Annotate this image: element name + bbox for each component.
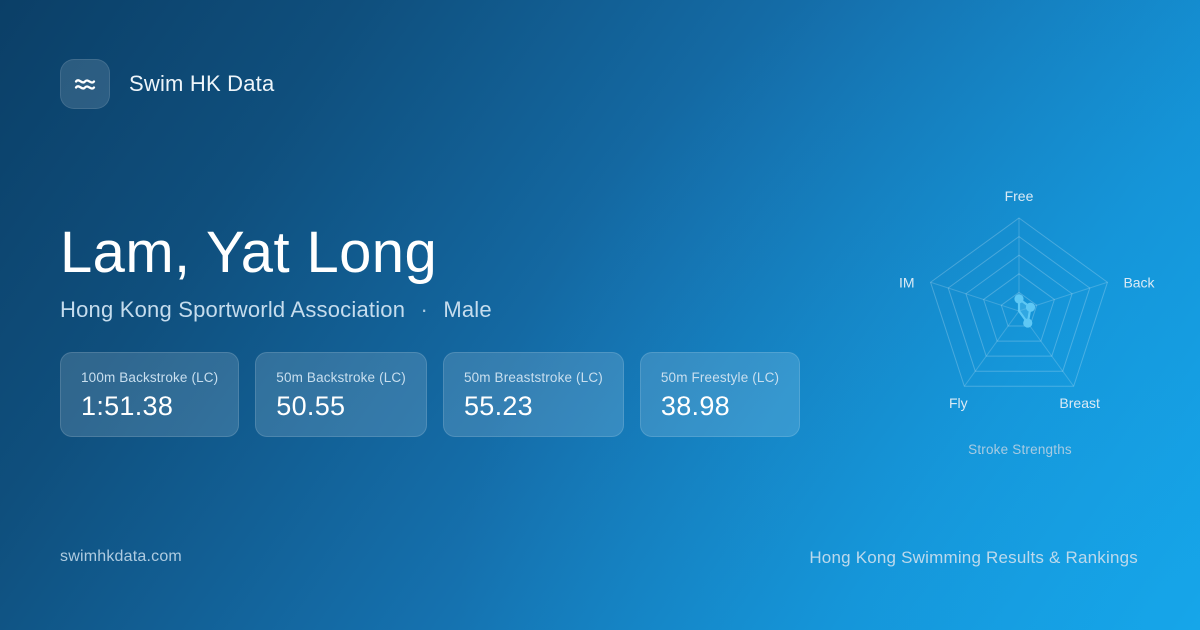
footer-tagline: Hong Kong Swimming Results & Rankings	[809, 548, 1138, 568]
stroke-strength-radar-chart: FreeBackBreastFlyIM Stroke Strengths	[870, 165, 1170, 475]
wave-approx-icon	[60, 59, 110, 109]
stat-card-value: 55.23	[464, 392, 603, 420]
stat-card-label: 50m Backstroke (LC)	[276, 370, 406, 385]
brand-lockup: Swim HK Data	[60, 59, 274, 109]
radar-axis-labels: FreeBackBreastFlyIM	[899, 188, 1156, 411]
athlete-gender: Male	[443, 297, 492, 322]
stat-card-label: 100m Backstroke (LC)	[81, 370, 218, 385]
footer-site: swimhkdata.com	[60, 548, 182, 566]
stat-card-value: 50.55	[276, 392, 406, 420]
stat-card: 50m Backstroke (LC) 50.55	[255, 352, 427, 437]
headline-block: Lam, Yat Long Hong Kong Sportworld Assoc…	[60, 222, 492, 323]
stat-card: 50m Freestyle (LC) 38.98	[640, 352, 800, 437]
radar-axis-label-im: IM	[899, 274, 915, 290]
athlete-club: Hong Kong Sportworld Association	[60, 297, 405, 322]
stat-card: 100m Backstroke (LC) 1:51.38	[60, 352, 239, 437]
radar-caption: Stroke Strengths	[870, 442, 1170, 457]
stat-card-label: 50m Freestyle (LC)	[661, 370, 779, 385]
og-card: Swim HK Data Lam, Yat Long Hong Kong Spo…	[0, 0, 1200, 630]
page-title: Lam, Yat Long	[60, 222, 492, 283]
radar-axis-label-free: Free	[1005, 188, 1034, 204]
stat-card-list: 100m Backstroke (LC) 1:51.38 50m Backstr…	[60, 352, 800, 437]
stat-card: 50m Breaststroke (LC) 55.23	[443, 352, 624, 437]
radar-axis-label-fly: Fly	[949, 395, 968, 411]
radar-axis-label-breast: Breast	[1059, 395, 1100, 411]
radar-axis-label-back: Back	[1123, 274, 1155, 290]
stat-card-value: 1:51.38	[81, 392, 218, 420]
athlete-meta: Hong Kong Sportworld Association · Male	[60, 297, 492, 323]
brand-name: Swim HK Data	[129, 71, 274, 97]
stat-card-label: 50m Breaststroke (LC)	[464, 370, 603, 385]
stat-card-value: 38.98	[661, 392, 779, 420]
meta-separator: ·	[420, 297, 428, 322]
